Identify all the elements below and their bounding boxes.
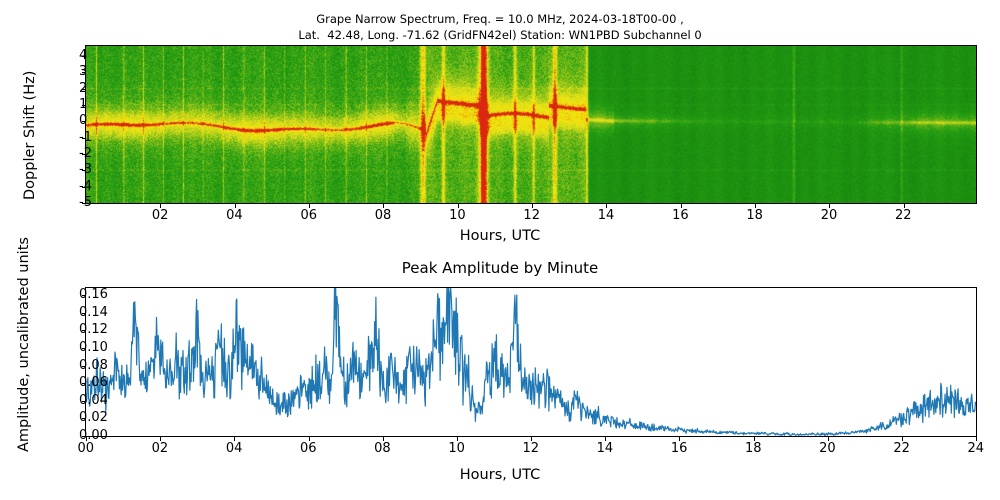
amplitude-ytick-label: 0.16 (79, 287, 108, 302)
spectrogram-ytick-label: -2 (79, 146, 92, 161)
amplitude-ytick-label: 0.06 (79, 375, 108, 390)
spectrogram-ytick-label: -5 (79, 195, 92, 210)
spectrogram-ytick-label: -4 (79, 179, 92, 194)
spectrogram-xtick-label: 14 (598, 208, 615, 223)
amplitude-ytick-label: 0.04 (79, 393, 108, 408)
axis-tick-mark (234, 437, 235, 441)
amplitude-xtick-label: 08 (374, 441, 391, 456)
spectrogram-xtick-label: 04 (226, 208, 243, 223)
axis-tick-mark (531, 437, 532, 441)
amplitude-xtick-label: 24 (968, 441, 985, 456)
amplitude-xtick-label: 22 (893, 441, 910, 456)
axis-tick-mark (976, 437, 977, 441)
amplitude-xtick-label: 16 (671, 441, 688, 456)
amplitude-series-line (86, 288, 976, 435)
amplitude-xtick-label: 20 (819, 441, 836, 456)
amplitude-y-axis-label: Amplitude, uncalibrated units (16, 237, 32, 452)
spectrogram-y-axis-label: Doppler Shift (Hz) (22, 71, 38, 200)
spectrogram-ytick-label: 0 (79, 113, 87, 128)
amplitude-xtick-label: 18 (745, 441, 762, 456)
spectrogram-xtick-label: 18 (746, 208, 763, 223)
amplitude-xtick-label: 02 (152, 441, 169, 456)
amplitude-chart-panel[interactable] (85, 287, 977, 437)
amplitude-xtick-label: 10 (448, 441, 465, 456)
spectrogram-xtick-label: 22 (895, 208, 912, 223)
spectrogram-ytick-label: -1 (79, 130, 92, 145)
amplitude-xtick-label: 04 (226, 441, 243, 456)
spectrogram-ytick-label: -3 (79, 162, 92, 177)
axis-tick-mark (605, 437, 606, 441)
axis-tick-mark (829, 204, 830, 208)
figure-title-line1: Grape Narrow Spectrum, Freq. = 10.0 MHz,… (0, 12, 1000, 26)
spectrogram-ytick-label: 4 (79, 48, 87, 63)
spectrogram-xtick-label: 08 (375, 208, 392, 223)
axis-tick-mark (532, 204, 533, 208)
spectrogram-panel[interactable] (85, 45, 977, 204)
axis-tick-mark (828, 437, 829, 441)
axis-tick-mark (309, 437, 310, 441)
amplitude-xtick-label: 06 (300, 441, 317, 456)
figure-canvas: Grape Narrow Spectrum, Freq. = 10.0 MHz,… (0, 0, 1000, 500)
chart-subtitle: Peak Amplitude by Minute (0, 259, 1000, 277)
spectrogram-image (86, 46, 976, 203)
amplitude-ytick-label: 0.00 (79, 428, 108, 443)
axis-tick-mark (754, 437, 755, 441)
spectrogram-ytick-label: 3 (79, 64, 87, 79)
axis-tick-mark (458, 204, 459, 208)
spectrogram-xtick-label: 10 (449, 208, 466, 223)
axis-tick-mark (235, 204, 236, 208)
axis-tick-mark (160, 204, 161, 208)
amplitude-ytick-label: 0.02 (79, 410, 108, 425)
axis-tick-mark (681, 204, 682, 208)
axis-tick-mark (904, 204, 905, 208)
axis-tick-mark (755, 204, 756, 208)
axis-tick-mark (383, 437, 384, 441)
amplitude-ytick-label: 0.10 (79, 340, 108, 355)
spectrogram-xtick-label: 02 (152, 208, 169, 223)
amplitude-line-plot (86, 288, 976, 436)
spectrogram-ytick-label: 1 (79, 97, 87, 112)
figure-title-line2: Lat. 42.48, Long. -71.62 (GridFN42el) St… (0, 28, 1000, 42)
amplitude-xtick-label: 12 (523, 441, 540, 456)
spectrogram-ytick-label: 2 (79, 81, 87, 96)
spectrogram-xtick-label: 16 (672, 208, 689, 223)
spectrogram-x-axis-label: Hours, UTC (0, 228, 1000, 244)
amplitude-ytick-label: 0.14 (79, 305, 108, 320)
amplitude-ytick-label: 0.12 (79, 322, 108, 337)
spectrogram-xtick-label: 06 (300, 208, 317, 223)
axis-tick-mark (457, 437, 458, 441)
amplitude-ytick-label: 0.08 (79, 358, 108, 373)
spectrogram-xtick-label: 20 (821, 208, 838, 223)
axis-tick-mark (606, 204, 607, 208)
axis-tick-mark (160, 437, 161, 441)
amplitude-xtick-label: 14 (597, 441, 614, 456)
axis-tick-mark (679, 437, 680, 441)
axis-tick-mark (902, 437, 903, 441)
amplitude-xtick-label: 00 (78, 441, 95, 456)
amplitude-x-axis-label: Hours, UTC (0, 467, 1000, 483)
axis-tick-mark (309, 204, 310, 208)
spectrogram-xtick-label: 12 (523, 208, 540, 223)
axis-tick-mark (383, 204, 384, 208)
